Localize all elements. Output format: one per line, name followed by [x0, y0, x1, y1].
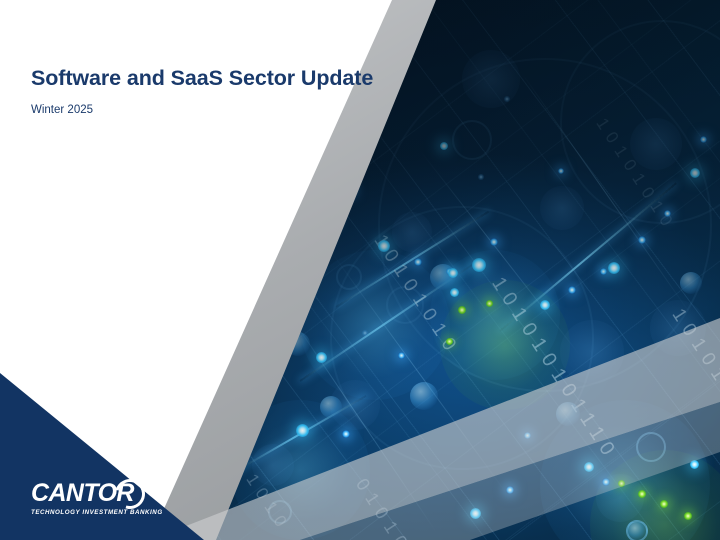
logo-wordmark: CANTOR: [31, 481, 181, 506]
cantor-logo: CANTOR TECHNOLOGY INVESTMENT BANKING: [31, 481, 181, 516]
node-orb: [258, 214, 276, 232]
glow-node: [258, 268, 264, 274]
title-slide: 10101010 101010101110 10101010 1010101 0…: [0, 0, 720, 540]
slide-subtitle: Winter 2025: [31, 104, 93, 116]
logo-wordmark-text: CANTOR: [31, 479, 134, 507]
logo-tagline: TECHNOLOGY INVESTMENT BANKING: [31, 509, 181, 516]
slide-title: Software and SaaS Sector Update: [31, 66, 373, 91]
